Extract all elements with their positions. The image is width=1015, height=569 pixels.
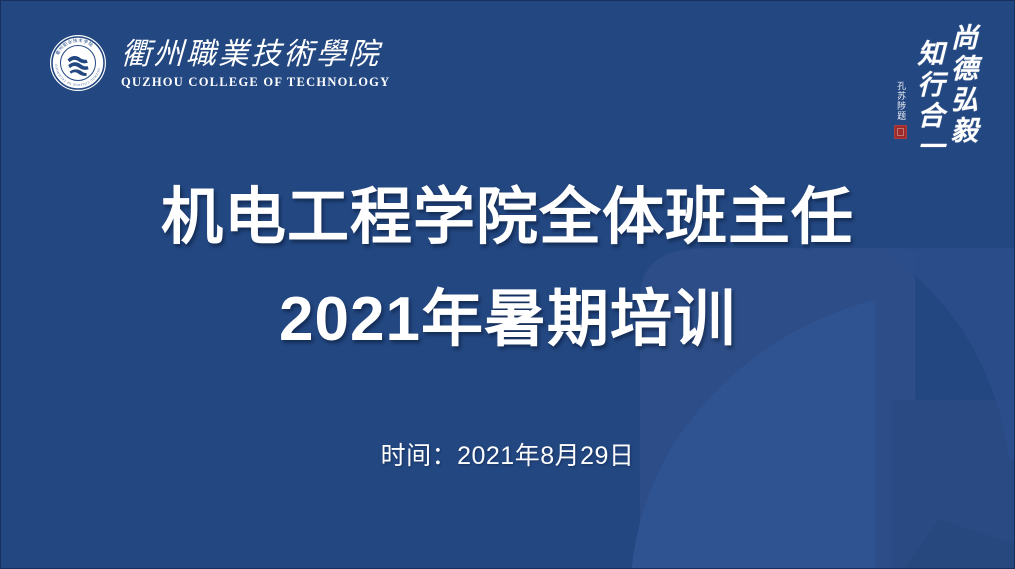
- slide-title-block: 机电工程学院全体班主任 2021年暑期培训: [1, 187, 1014, 351]
- motto-column-left: 知行合一: [913, 23, 943, 163]
- college-emblem-icon: 衢州职业技术学院 QUZHOU COLLEGE OF TECHNOLOGY: [49, 34, 107, 92]
- calligraphy-motto: 尚德弘毅 知行合一 孔苏陟题: [894, 23, 976, 163]
- motto-signature-group: 孔苏陟题: [894, 81, 907, 139]
- logo-text-block: 衢州職業技術學院 QUZHOU COLLEGE OF TECHNOLOGY: [121, 36, 390, 90]
- motto-signature-text: 孔苏陟题: [895, 81, 905, 121]
- slide-subtitle-date: 时间：2021年8月29日: [1, 436, 1014, 472]
- presentation-title-slide: 衢州职业技术学院 QUZHOU COLLEGE OF TECHNOLOGY 衢州…: [0, 0, 1015, 569]
- logo-name-chinese: 衢州職業技術學院: [120, 38, 381, 72]
- logo-name-english: QUZHOU COLLEGE OF TECHNOLOGY: [121, 75, 390, 90]
- institution-logo-lockup: 衢州职业技术学院 QUZHOU COLLEGE OF TECHNOLOGY 衢州…: [49, 34, 390, 92]
- slide-title-line-2: 2021年暑期培训: [1, 289, 1014, 351]
- red-seal-stamp-icon: [894, 125, 907, 139]
- decor-shape-right-panel: [892, 400, 1014, 568]
- motto-column-right: 尚德弘毅: [946, 23, 976, 147]
- slide-title-line-1: 机电工程学院全体班主任: [1, 187, 1014, 249]
- decor-shape-corner-chip: [904, 519, 1014, 568]
